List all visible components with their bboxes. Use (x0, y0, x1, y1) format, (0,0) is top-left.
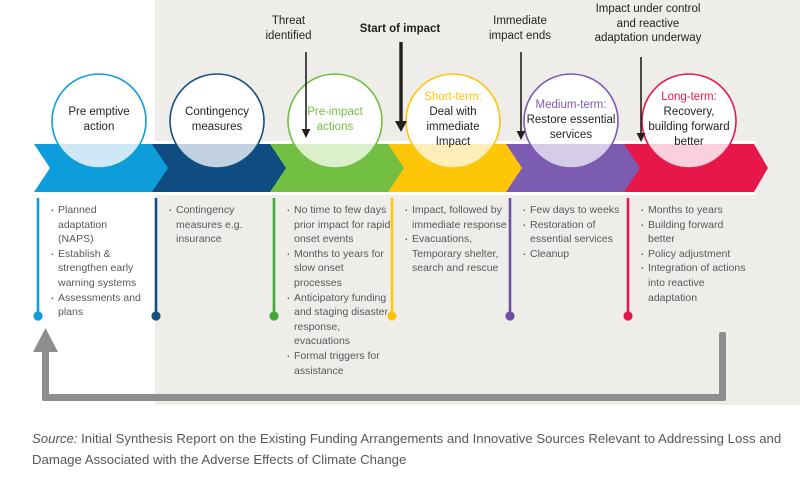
annotation-label-impact-under-control: Impact under control and reactive adapta… (558, 2, 738, 46)
stage-bullets-contingency-measures: Contingency measures e.g. insurance (168, 203, 263, 247)
bullet-list: Impact, followed by immediate responseEv… (404, 203, 512, 276)
stage-label-medium-term: Medium-term:Restore essential services (519, 98, 623, 143)
bullet-item: Restoration of essential services (522, 218, 627, 247)
stage-label-contingency-measures: Contingency measures (165, 105, 269, 135)
bullet-item: Policy adjustment (640, 247, 750, 262)
bullet-list: Contingency measures e.g. insurance (168, 203, 263, 247)
stage-chevron-halo (31, 141, 168, 195)
stage-bullets-pre-impact-actions: No time to few days prior impact for rap… (286, 203, 394, 378)
bullet-item: Months to years for slow onset processes (286, 247, 394, 291)
stage-label-main: Pre emptive action (47, 105, 151, 135)
bullet-item: Integration of actions into reactive ada… (640, 261, 750, 305)
stage-label-accent: Long-term: (637, 90, 741, 105)
stage-label-main: Contingency measures (165, 105, 269, 135)
bullet-item: Anticipatory funding and staging disaste… (286, 291, 394, 349)
diagram-canvas: Threat identifiedStart of impactImmediat… (0, 0, 800, 485)
bullet-item: Cleanup (522, 247, 627, 262)
stage-connector-dot (33, 311, 42, 320)
stage-label-main: Restore essential services (519, 113, 623, 143)
stage-bullets-pre-emptive-action: Planned adaptation (NAPS)Establish & str… (50, 203, 145, 320)
bullet-list: No time to few days prior impact for rap… (286, 203, 394, 378)
bullet-item: No time to few days prior impact for rap… (286, 203, 394, 247)
bullet-item: Contingency measures e.g. insurance (168, 203, 263, 247)
bullet-list: Few days to weeksRestoration of essentia… (522, 203, 627, 261)
stage-label-short-term: Short-term:Deal with immediate Impact (401, 90, 505, 150)
bullet-item: Building forward better (640, 218, 750, 247)
bullet-list: Months to yearsBuilding forward betterPo… (640, 203, 750, 305)
stage-bullets-long-term: Months to yearsBuilding forward betterPo… (640, 203, 750, 305)
stage-label-pre-impact-actions: Pre-impact actions (283, 105, 387, 135)
bullet-item: Planned adaptation (NAPS) (50, 203, 145, 247)
source-caption: Source: Initial Synthesis Report on the … (32, 428, 782, 470)
stage-label-accent: Pre-impact actions (283, 105, 387, 135)
bullet-item: Months to years (640, 203, 750, 218)
stage-bullets-short-term: Impact, followed by immediate responseEv… (404, 203, 512, 276)
stage-label-accent: Short-term: (401, 90, 505, 105)
bullet-item: Establish & strengthen early warning sys… (50, 247, 145, 291)
bullet-item: Few days to weeks (522, 203, 627, 218)
stage-bullets-medium-term: Few days to weeksRestoration of essentia… (522, 203, 627, 261)
source-prefix: Source: (32, 431, 77, 446)
bullet-item: Assessments and plans (50, 291, 145, 320)
bullet-item: Evacuations, Temporary shelter, search a… (404, 232, 512, 276)
stage-label-pre-emptive-action: Pre emptive action (47, 105, 151, 135)
stage-label-accent: Medium-term: (519, 98, 623, 113)
stage-label-long-term: Long-term:Recovery, building forward bet… (637, 90, 741, 150)
bullet-item: Impact, followed by immediate response (404, 203, 512, 232)
source-text: Initial Synthesis Report on the Existing… (32, 431, 781, 467)
bullet-item: Formal triggers for assistance (286, 349, 394, 378)
bullet-list: Planned adaptation (NAPS)Establish & str… (50, 203, 145, 320)
stage-label-main: Deal with immediate Impact (401, 105, 505, 150)
stage-label-main: Recovery, building forward better (637, 105, 741, 150)
